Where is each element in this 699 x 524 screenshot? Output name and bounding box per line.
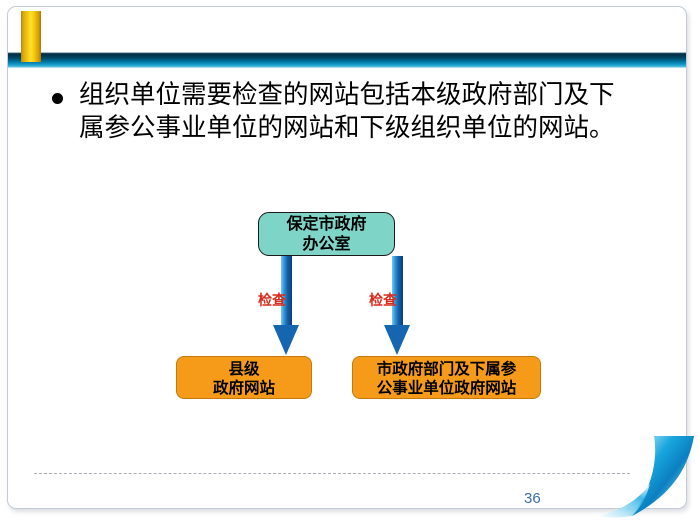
body-bullet-text: 组织单位需要检查的网站包括本级政府部门及下属参公事业单位的网站和下级组织单位的网…: [79, 79, 627, 145]
node-label-line-1: 市政府部门及下属参: [377, 359, 517, 378]
page-number: 36: [524, 490, 541, 507]
diagram-node-top-authority[interactable]: 保定市政府 办公室: [258, 212, 395, 256]
node-label-line-1: 保定市政府: [286, 214, 366, 234]
node-label-line-1: 县级: [213, 359, 275, 378]
bullet-dot-icon: [52, 93, 63, 104]
page-curl-decoration: [592, 434, 696, 522]
edge-label-inspect-left: 检查: [258, 290, 286, 310]
edge-label-inspect-right: 检查: [369, 290, 397, 310]
slide-canvas: 组织单位需要检查的网站包括本级政府部门及下属参公事业单位的网站和下级组织单位的网…: [0, 0, 699, 524]
node-label-line-2: 政府网站: [213, 378, 275, 397]
footer-divider: [34, 473, 630, 474]
arrow-head-icon: [273, 325, 299, 355]
gold-accent-bar: [21, 11, 41, 62]
body-bullet-row: 组织单位需要检查的网站包括本级政府部门及下属参公事业单位的网站和下级组织单位的网…: [52, 79, 652, 145]
arrow-head-icon: [384, 325, 410, 355]
page-curl-icon: [592, 434, 696, 522]
blue-header-band: [8, 52, 686, 68]
node-label-line-2: 公事业单位政府网站: [377, 378, 517, 397]
node-label-line-2: 办公室: [286, 234, 366, 254]
diagram-node-county-sites[interactable]: 县级 政府网站: [176, 356, 312, 399]
diagram-node-municipal-dept-sites[interactable]: 市政府部门及下属参 公事业单位政府网站: [352, 356, 541, 399]
